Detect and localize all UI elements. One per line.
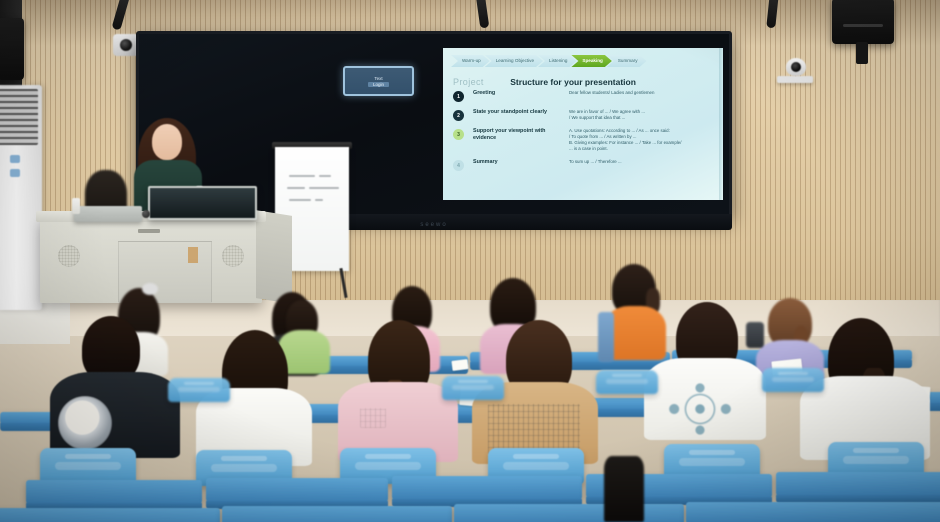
tshirt-graphic — [662, 378, 738, 440]
podium-side-panel — [256, 210, 292, 304]
backpack — [746, 322, 764, 348]
shirt-graphic — [360, 408, 386, 428]
slide-example-line: ... is a case in point. — [569, 146, 717, 152]
air-conditioner — [0, 85, 42, 310]
desk-row-front — [26, 480, 202, 504]
jacket-graphic — [488, 404, 580, 454]
wall-camera-right-icon — [786, 58, 806, 76]
aisle-silhouette — [604, 456, 644, 522]
slide-step-summary[interactable]: Summary — [607, 55, 647, 67]
handwriting-mark — [319, 175, 331, 177]
slide-row: 1 Greeting Dear fellow students/ Ladies … — [453, 90, 717, 102]
ac-badge — [10, 169, 20, 177]
podium-monitor[interactable] — [148, 186, 257, 220]
worksheet-paper — [451, 359, 468, 371]
classroom-scene: Text Login Warm-up Learning Objective Li… — [0, 0, 940, 522]
screen-dialog-line2: Login — [368, 82, 389, 87]
slide-example-line: Dear fellow students/ Ladies and gentlem… — [569, 90, 717, 96]
desk-row-foreground — [0, 508, 220, 522]
slide-row-examples: To sum up ... / Therefore ... — [569, 159, 717, 165]
slide-step-label: Speaking — [582, 59, 602, 64]
ac-badge — [10, 155, 20, 163]
ac-vent-grill — [0, 89, 38, 145]
slide-example-line: / We support that idea that ... — [569, 115, 717, 121]
podium-speaker-grill — [58, 245, 80, 267]
handwriting-mark — [309, 187, 339, 189]
handwriting-mark — [289, 175, 315, 177]
desk-row-foreground — [686, 502, 940, 522]
classroom-chair[interactable] — [442, 376, 504, 400]
slide-row-examples: We are in favor of ... / We agree with .… — [569, 109, 717, 121]
slide-edge-shade — [719, 48, 723, 200]
slide-title: Structure for your presentation — [510, 77, 636, 87]
classroom-chair[interactable] — [762, 368, 824, 392]
slide-row-number: 1 — [453, 91, 464, 102]
slide-content-rows: 1 Greeting Dear fellow students/ Ladies … — [453, 90, 717, 178]
screen-dialog-box[interactable]: Text Login — [343, 66, 414, 96]
slide-step-label: Learning Objective — [496, 59, 534, 64]
podium-laptop[interactable] — [74, 206, 142, 222]
handwriting-mark — [315, 199, 323, 201]
slide-row-label: Summary — [473, 159, 569, 166]
slide-row-examples: Dear fellow students/ Ladies and gentlem… — [569, 90, 717, 96]
podium-speaker-grill — [222, 245, 244, 267]
slide-step-learning-objective[interactable]: Learning Objective — [485, 55, 543, 67]
slide-kicker: Project — [453, 77, 484, 87]
classroom-chair[interactable] — [40, 448, 136, 484]
backpack-print — [58, 396, 112, 450]
slide-header: Project Structure for your presentation — [453, 72, 715, 90]
display-brand-label: seewo — [420, 222, 447, 228]
slide-step-warm-up[interactable]: Warm-up — [451, 55, 490, 67]
slide-step-listening[interactable]: Listening — [538, 55, 576, 67]
teacher-face — [152, 124, 182, 160]
slide-step-label: Summary — [618, 59, 638, 64]
desk-row-foreground — [454, 504, 684, 522]
speaker-slot — [843, 24, 883, 27]
slide-row-label: Greeting — [473, 90, 569, 97]
desk-row-front — [392, 476, 582, 500]
wall-speaker-left — [0, 18, 24, 80]
slide-row-label: State your standpoint clearly — [473, 109, 569, 116]
water-bottle — [72, 198, 80, 214]
camera-bracket — [777, 76, 813, 83]
handwriting-mark — [289, 199, 311, 201]
classroom-chair[interactable] — [596, 370, 658, 394]
desk-row-front — [776, 472, 940, 496]
slide-row: 2 State your standpoint clearly We are i… — [453, 109, 717, 121]
wall-speaker-right — [832, 0, 894, 44]
slide-step-navigation[interactable]: Warm-up Learning Objective Listening Spe… — [451, 55, 642, 67]
slide-step-label: Listening — [549, 59, 567, 64]
classroom-chair[interactable] — [168, 378, 230, 402]
podium-label — [138, 229, 160, 233]
denim-strap — [598, 312, 614, 362]
presentation-slide[interactable]: Warm-up Learning Objective Listening Spe… — [443, 48, 723, 200]
slide-row-examples: A. Use quotations: According to ... / As… — [569, 128, 717, 152]
podium-knob[interactable] — [142, 210, 150, 218]
screen-dialog-line1: Text — [374, 76, 382, 81]
slide-example-line: To sum up ... / Therefore ... — [569, 159, 717, 165]
podium-sticker — [188, 247, 198, 263]
slide-row-number: 3 — [453, 129, 464, 140]
slide-step-label: Warm-up — [462, 59, 481, 64]
desk-row-front — [206, 478, 388, 502]
slide-step-speaking[interactable]: Speaking — [571, 55, 611, 67]
desk-row-foreground — [222, 506, 452, 522]
slide-row: 3 Support your viewpoint with evidence A… — [453, 128, 717, 152]
slide-row: 4 Summary To sum up ... / Therefore ... — [453, 159, 717, 171]
slide-row-number: 4 — [453, 160, 464, 171]
hair-tie — [142, 283, 158, 295]
slide-row-number: 2 — [453, 110, 464, 121]
handwriting-mark — [287, 187, 305, 189]
speaker-mount — [856, 42, 868, 64]
slide-row-label: Support your viewpoint with evidence — [473, 128, 569, 143]
